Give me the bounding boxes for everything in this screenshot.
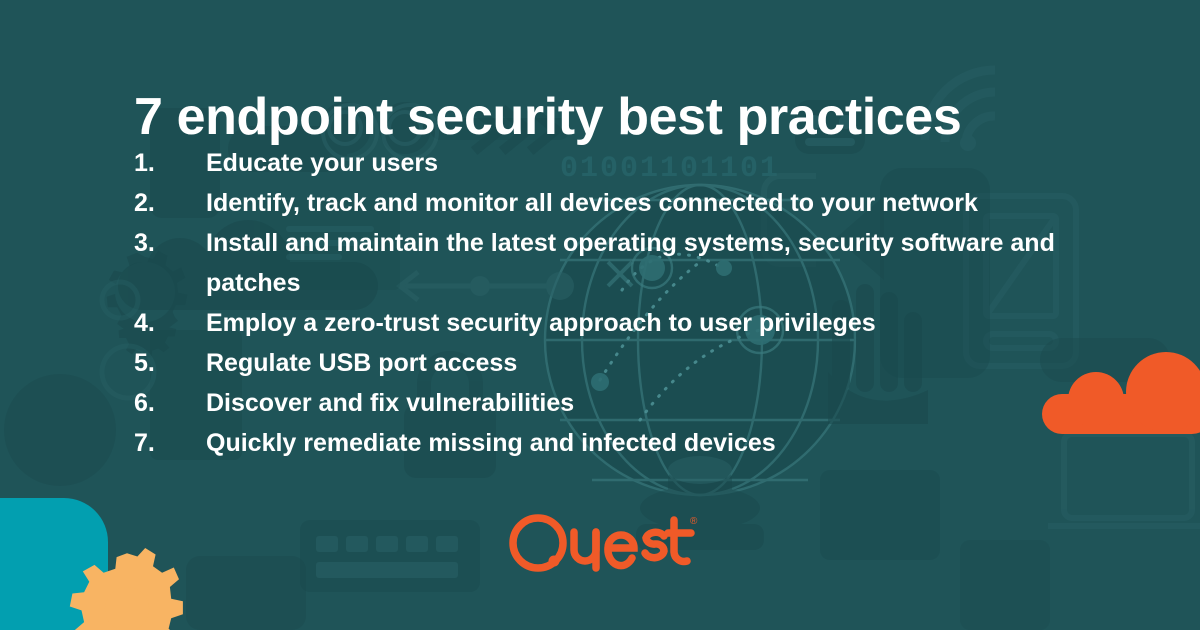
best-practices-list: 1. Educate your users 2. Identify, track… (134, 143, 1144, 463)
list-item: 7. Quickly remediate missing and infecte… (134, 423, 1144, 463)
content-layer: 7 endpoint security best practices 1. Ed… (0, 0, 1200, 630)
list-item-number: 5. (134, 343, 206, 383)
list-item-text: Regulate USB port access (206, 343, 1144, 383)
list-item-text: Quickly remediate missing and infected d… (206, 423, 1144, 463)
list-item: 1. Educate your users (134, 143, 1144, 183)
list-item: 4. Employ a zero-trust security approach… (134, 303, 1144, 343)
page-title: 7 endpoint security best practices (134, 87, 961, 147)
list-item-number: 7. (134, 423, 206, 463)
list-item-text: Educate your users (206, 143, 1144, 183)
trademark-symbol: ® (690, 516, 698, 527)
quest-q-dot (549, 556, 560, 567)
list-item-text: Discover and fix vulnerabilities (206, 383, 1144, 423)
quest-logo: ® (508, 512, 698, 574)
list-item: 6. Discover and fix vulnerabilities (134, 383, 1144, 423)
list-item-number: 1. (134, 143, 206, 183)
list-item-number: 4. (134, 303, 206, 343)
list-item-text: Install and maintain the latest operatin… (206, 223, 1144, 303)
list-item-number: 3. (134, 223, 206, 263)
list-item: 3. Install and maintain the latest opera… (134, 223, 1144, 303)
list-item: 5. Regulate USB port access (134, 343, 1144, 383)
list-item-text: Employ a zero-trust security approach to… (206, 303, 1144, 343)
quest-logo-mark: ® (508, 512, 698, 574)
list-item-number: 6. (134, 383, 206, 423)
list-item-number: 2. (134, 183, 206, 223)
graphic-canvas: 01001101101 (0, 0, 1200, 630)
list-item-text: Identify, track and monitor all devices … (206, 183, 1144, 223)
list-item: 2. Identify, track and monitor all devic… (134, 183, 1144, 223)
